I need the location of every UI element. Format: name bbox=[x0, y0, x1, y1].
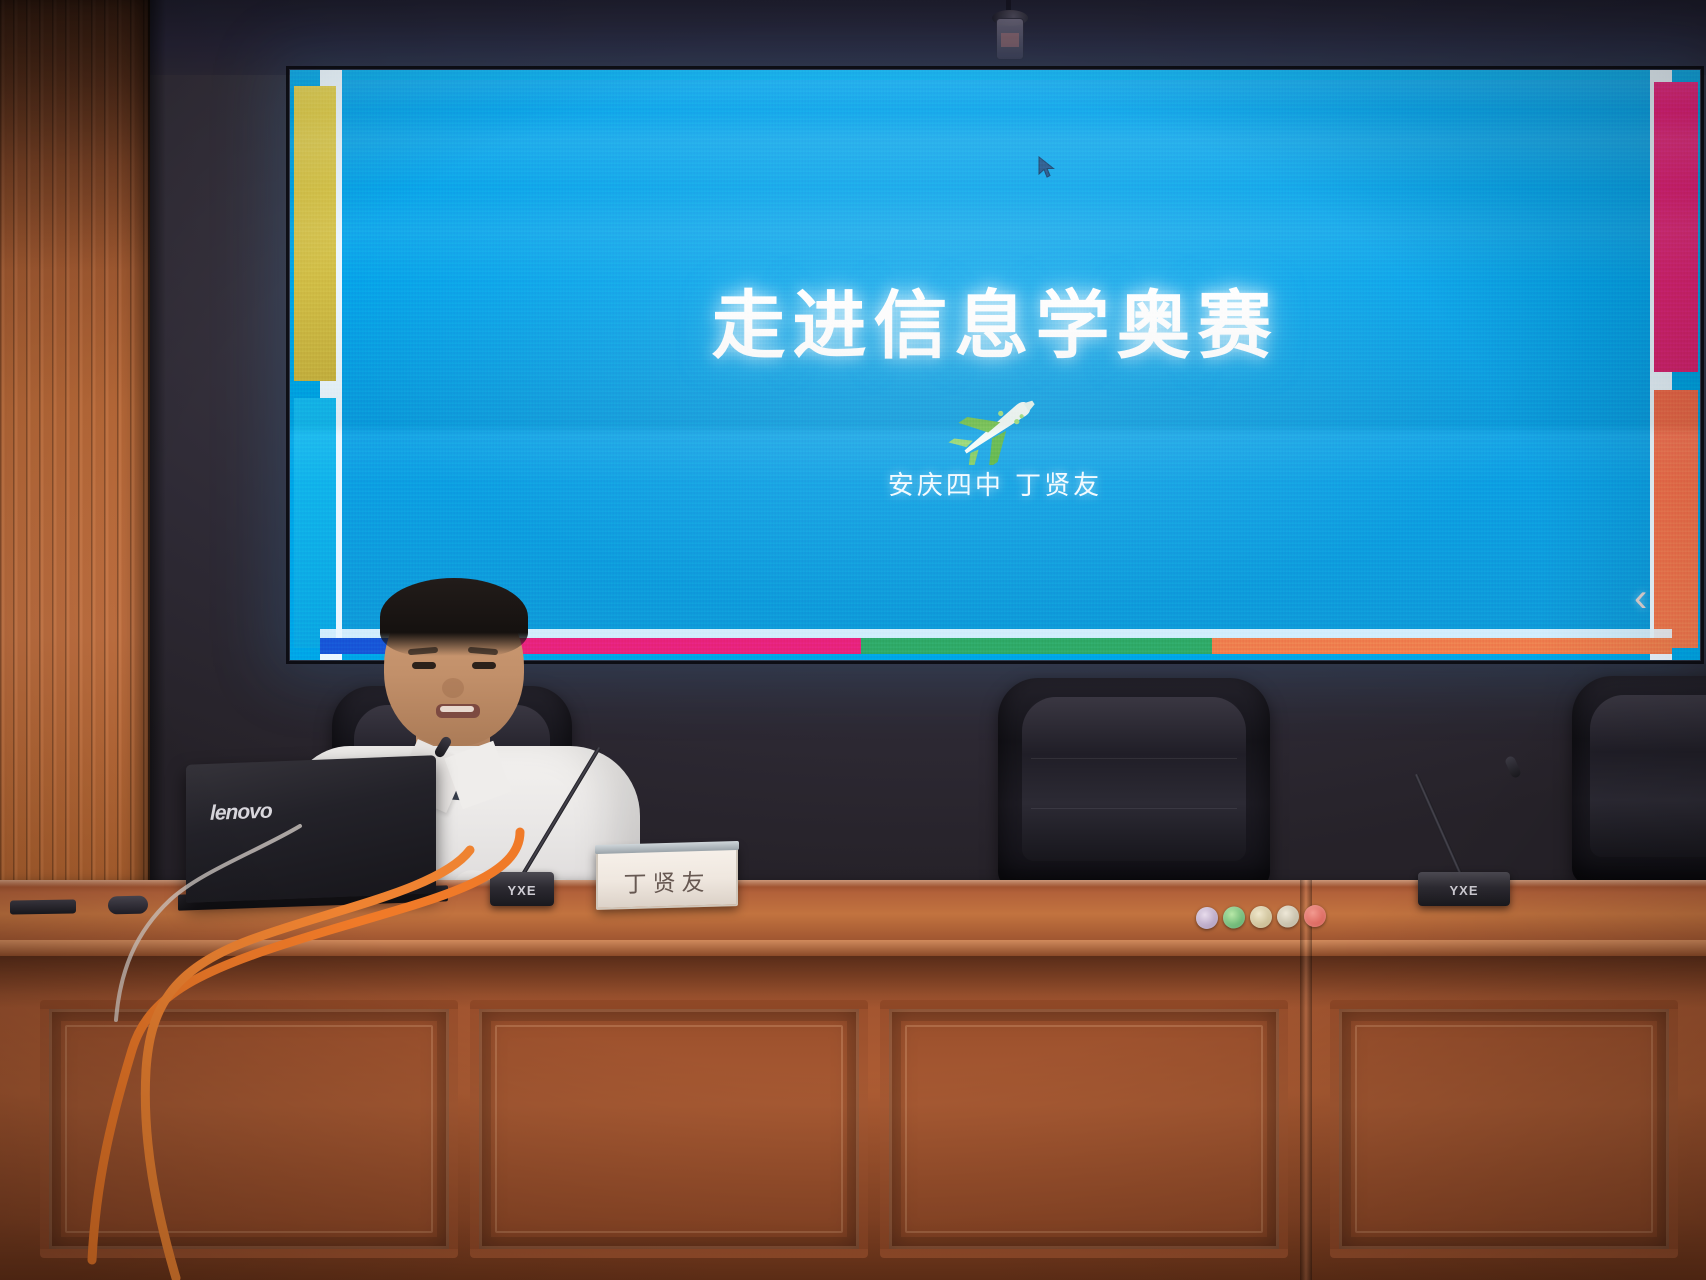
chair-seam bbox=[1031, 808, 1238, 809]
presenter-remote[interactable] bbox=[10, 899, 76, 914]
slide-subtitle: 安庆四中 丁贤友 bbox=[290, 465, 1700, 502]
presenter-nose bbox=[442, 678, 464, 698]
desk-edge-lip bbox=[0, 940, 1706, 956]
presenter-mouth bbox=[436, 704, 480, 718]
desk-panel-3 bbox=[880, 1000, 1288, 1258]
slide-title: 走进信息学奥赛 bbox=[290, 266, 1700, 373]
desk-panel-4 bbox=[1330, 1000, 1678, 1258]
wood-slat-wall-panel bbox=[0, 0, 150, 905]
control-button-3[interactable] bbox=[1250, 906, 1272, 928]
desk-panel-2 bbox=[470, 1000, 868, 1258]
chair-right bbox=[1572, 676, 1706, 884]
strip-segment-green bbox=[861, 638, 1213, 654]
slide-prev-chevron-icon[interactable]: ‹ bbox=[1634, 578, 1660, 622]
presenter-eye-right bbox=[472, 662, 496, 669]
microphone-left[interactable]: YXE bbox=[490, 838, 554, 906]
desk-panel-1 bbox=[40, 1000, 458, 1258]
laptop[interactable]: lenovo bbox=[186, 755, 436, 903]
microphone-right[interactable]: YXE bbox=[1418, 848, 1510, 906]
chair-seam bbox=[1031, 758, 1238, 759]
mouse-pointer-icon bbox=[1038, 156, 1056, 178]
control-button-5[interactable] bbox=[1304, 905, 1326, 927]
nameplate-text: 丁贤友 bbox=[598, 862, 736, 900]
screenshot-root: 走进信息学奥赛 安庆四中 丁贤友 bbox=[0, 0, 1706, 1280]
presenter-hair bbox=[380, 578, 528, 656]
airplane-icon bbox=[941, 395, 1049, 465]
chair-cushion bbox=[1590, 695, 1706, 857]
nameplate: 丁贤友 bbox=[596, 844, 738, 910]
presentation-slide[interactable]: 走进信息学奥赛 安庆四中 丁贤友 bbox=[290, 70, 1700, 660]
control-button-1[interactable] bbox=[1196, 907, 1218, 929]
desk-control-panel[interactable] bbox=[1196, 905, 1326, 929]
desk-module-seam bbox=[1300, 880, 1312, 1280]
microphone-brand-label: YXE bbox=[1418, 883, 1510, 898]
ceiling-speaker-icon bbox=[986, 0, 1032, 58]
microphone-brand-label: YXE bbox=[490, 883, 554, 898]
laptop-brand-label: lenovo bbox=[210, 800, 272, 826]
chair-cushion bbox=[1022, 697, 1245, 861]
strip-segment-orange bbox=[1212, 638, 1672, 654]
presenter-eye-left bbox=[412, 662, 436, 669]
projection-screen[interactable]: 走进信息学奥赛 安庆四中 丁贤友 bbox=[290, 70, 1700, 660]
wall-panel-edge-shadow bbox=[148, 0, 166, 905]
control-button-4[interactable] bbox=[1277, 905, 1299, 927]
control-button-2[interactable] bbox=[1223, 906, 1245, 928]
ceiling-mount-body bbox=[996, 18, 1024, 60]
slide-block-right-bottom bbox=[1654, 390, 1698, 648]
chair-center bbox=[998, 678, 1270, 888]
ceiling-band bbox=[0, 0, 1706, 75]
computer-mouse[interactable] bbox=[108, 896, 148, 915]
